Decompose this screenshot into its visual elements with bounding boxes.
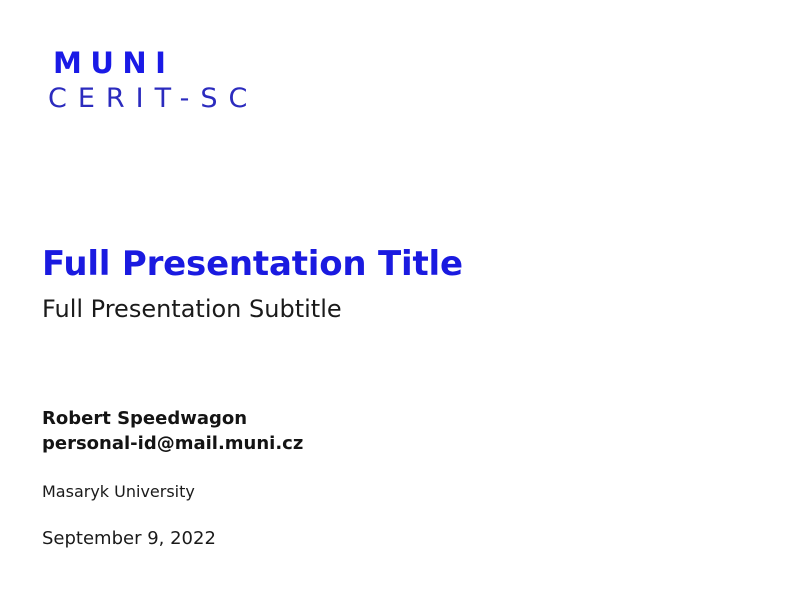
author-name: Robert Speedwagon <box>42 406 742 431</box>
title-block: Full Presentation Title Full Presentatio… <box>42 243 742 326</box>
affiliation: Masaryk University <box>42 481 742 503</box>
muni-cerit-sc-logo: MUNI CERIT-SC <box>42 46 362 116</box>
presenter-meta-block: Robert Speedwagon personal-id@mail.muni.… <box>42 406 742 551</box>
author-email: personal-id@mail.muni.cz <box>42 431 742 456</box>
page-subtitle: Full Presentation Subtitle <box>42 292 742 326</box>
logo-muni-wordmark: MUNI <box>53 46 362 80</box>
presentation-date: September 9, 2022 <box>42 527 742 551</box>
logo-cerit-sc-wordmark: CERIT-SC <box>48 82 362 116</box>
page-title: Full Presentation Title <box>42 243 742 285</box>
title-slide: MUNI CERIT-SC Full Presentation Title Fu… <box>0 0 794 596</box>
